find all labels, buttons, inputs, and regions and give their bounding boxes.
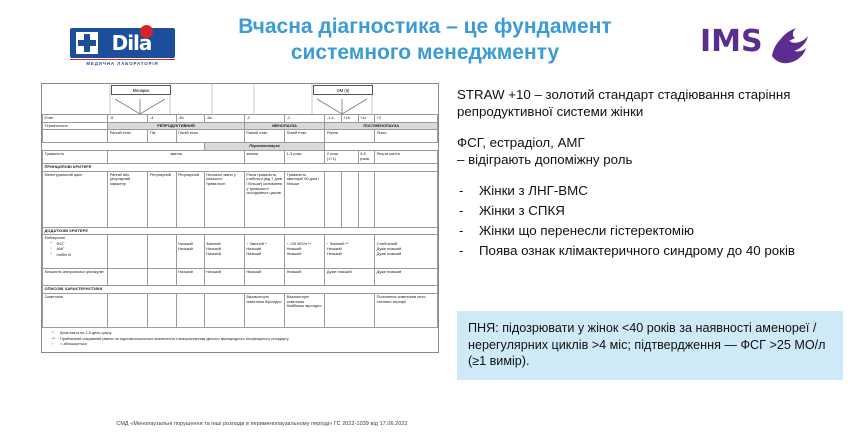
afc-cell: Низький bbox=[244, 269, 284, 286]
subphase-cell: Пізній етап bbox=[285, 130, 325, 143]
table-row-cycle: Менструальний цикл Ранній або регулярний… bbox=[43, 171, 438, 227]
duration-cell: змінна bbox=[108, 151, 245, 163]
straw-grid: Етап -5 -4 -3b -3a -2 -1 -1 a +1b +1c +2… bbox=[42, 114, 438, 328]
stage-cell: +2 bbox=[375, 115, 438, 123]
symptom-cell: Посилення симптомів сечо-статевої атрофі… bbox=[375, 293, 438, 327]
cycle-cell-empty bbox=[358, 171, 375, 227]
symptom-cell-empty bbox=[148, 293, 176, 327]
afc-cell: Низький bbox=[285, 269, 325, 286]
endocrine-cell-empty bbox=[108, 235, 148, 269]
footnote-marker: ↑ bbox=[52, 342, 54, 348]
subphase-cell: Ранній етап bbox=[244, 130, 284, 143]
endocrine-cell: Низький Низький bbox=[176, 235, 204, 269]
row-label-cycle: Менструальний цикл bbox=[43, 171, 108, 227]
dila-logo-tagline: МЕДИЧНА ЛАБОРАТОРІЯ bbox=[70, 61, 175, 66]
ims-logo-text: IMS bbox=[700, 24, 763, 59]
right-text-column: STRAW +10 – золотий стандарт стадіювання… bbox=[457, 86, 857, 261]
slide: Dila МЕДИЧНА ЛАБОРАТОРІЯ Вчасна діагност… bbox=[0, 0, 860, 440]
row-label-symptoms: Симптоми bbox=[43, 293, 108, 327]
dila-logo-dot-icon bbox=[140, 25, 153, 38]
subphase-cell: Рання bbox=[325, 130, 375, 143]
stage-cell: -3b bbox=[176, 115, 204, 123]
section-header-additional: ДОДАТКОВІ КРИТЕРІЇ bbox=[43, 227, 438, 235]
duration-cell: 3-6 років bbox=[358, 151, 375, 163]
endocrine-cell: Стабільний Дуже низький Дуже низький bbox=[375, 235, 438, 269]
symptom-cell: Вазомоторні симптоми Вірогідно bbox=[244, 293, 284, 327]
table-row-perimenopause: Перименопауза bbox=[43, 143, 438, 151]
symptom-cell: Вазомоторні симптоми Найбільш вірогідно bbox=[285, 293, 325, 327]
medical-cross-icon bbox=[76, 32, 98, 54]
stage-cell: -3a bbox=[204, 115, 244, 123]
list-item: Поява ознак клімактеричного синдрому до … bbox=[457, 241, 857, 260]
row-label-endocrine: Ендокринні ФСГ АМГ Інгібін В bbox=[43, 235, 108, 269]
cycle-cell-empty bbox=[325, 171, 342, 227]
table-row-afc: Кількість антральних фолікулів Низький Н… bbox=[43, 269, 438, 286]
menarche-marker: Менархе bbox=[111, 85, 171, 95]
endocrine-cell: ↑ Змінний ** Низький Низький bbox=[325, 235, 375, 269]
poi-note-box: ПНЯ: підозрювати у жінок <40 років за на… bbox=[457, 311, 843, 380]
symptom-cell-empty bbox=[325, 293, 375, 327]
hormones-paragraph: ФСГ, естрадіол, АМГ – відіграють допоміж… bbox=[457, 134, 857, 168]
stage-cell: -1 bbox=[285, 115, 325, 123]
perimeno-spacer-left bbox=[43, 143, 108, 151]
stage-cell: +1c bbox=[358, 115, 375, 123]
cycle-cell: Регулярний bbox=[176, 171, 204, 227]
afc-cell-empty bbox=[148, 269, 176, 286]
stage-cell: -4 bbox=[148, 115, 176, 123]
straw-intro-paragraph: STRAW +10 – золотий стандарт стадіювання… bbox=[457, 86, 857, 120]
cycle-cell-empty bbox=[375, 171, 438, 227]
duration-cell: змінна bbox=[244, 151, 284, 163]
dila-logo: Dila МЕДИЧНА ЛАБОРАТОРІЯ bbox=[70, 28, 180, 68]
cycle-cell: Тривалість аменореї 60 днів і більше bbox=[285, 171, 325, 227]
cycle-cell: Ранній або регулярний характер bbox=[108, 171, 148, 227]
list-item: Жінки з ЛНГ-ВМС bbox=[457, 181, 857, 200]
table-section-additional: ДОДАТКОВІ КРИТЕРІЇ bbox=[43, 227, 438, 235]
straw10-table: Менархе ОМ (0) Етап -5 -4 -3b -3a -2 -1 … bbox=[41, 83, 439, 353]
symptom-cell-empty bbox=[108, 293, 148, 327]
duration-cell: Решта життя bbox=[375, 151, 438, 163]
dila-logo-mark: Dila bbox=[70, 28, 175, 58]
page-title-line2: системного менеджменту bbox=[185, 40, 665, 66]
duration-cell: 2 роки (1+1) bbox=[325, 151, 358, 163]
endocrine-cell-empty bbox=[148, 235, 176, 269]
list-item: Жінки з СПКЯ bbox=[457, 201, 857, 220]
cycle-cell: Незначні зміни у кількості/ тривалості bbox=[204, 171, 244, 227]
list-item: Жінки що перенесли гістеректомію bbox=[457, 221, 857, 240]
endocrine-cell: Змінний Низький Низький bbox=[204, 235, 244, 269]
hormones-line1: ФСГ, естрадіол, АМГ bbox=[457, 135, 585, 150]
dila-logo-rule bbox=[70, 59, 175, 60]
perimeno-spacer bbox=[108, 143, 204, 151]
afc-cell: Дуже низький bbox=[375, 269, 438, 286]
afc-cell: Дуже низький bbox=[325, 269, 375, 286]
symptom-cell-empty bbox=[176, 293, 204, 327]
endocrine-cell: ↑ Змінний * Низький Низький bbox=[244, 235, 284, 269]
table-section-descriptive: ОПИСОВІ ХАРАКТЕРИСТИКИ bbox=[43, 286, 438, 294]
footnote-item: ↑ = збільшується bbox=[52, 342, 434, 348]
table-row-terminology: Термінологія РЕПРОДУКТИВНИЙ МЕНОПАУЗА ПО… bbox=[43, 122, 438, 130]
table-row-duration: Тривалість змінна змінна 1-3 роки 2 роки… bbox=[43, 151, 438, 163]
afc-cell: Низький bbox=[176, 269, 204, 286]
terminology-postmenopause: ПОСТМЕНОПАУЗА bbox=[325, 122, 438, 130]
table-row-endocrine: Ендокринні ФСГ АМГ Інгібін В Низький Низ… bbox=[43, 235, 438, 269]
afc-cell-empty bbox=[108, 269, 148, 286]
row-label-afc: Кількість антральних фолікулів bbox=[43, 269, 108, 286]
ims-logo: IMS bbox=[700, 22, 850, 68]
hormones-line2: – відіграють допоміжну роль bbox=[457, 152, 632, 167]
terminology-menopause: МЕНОПАУЗА bbox=[244, 122, 325, 130]
duration-cell: 1-3 роки bbox=[285, 151, 325, 163]
source-caption: СМД «Менопаузальні порушення та інші роз… bbox=[62, 421, 462, 427]
stage-cell: -1 a bbox=[325, 115, 342, 123]
table-row-subphase: Ранній етап Пік Пізній етап Ранній етап … bbox=[43, 130, 438, 143]
terminology-reproductive: РЕПРОДУКТИВНИЙ bbox=[108, 122, 245, 130]
table-footnotes: * Кров взята на 2-5 день циклу ** Прибли… bbox=[42, 328, 438, 352]
afc-cell: Низький bbox=[204, 269, 244, 286]
stage-cell: +1b bbox=[341, 115, 358, 123]
subphase-cell: Пік bbox=[148, 130, 176, 143]
perimenopause-band: Перименопауза bbox=[204, 143, 325, 151]
table-row-symptoms: Симптоми Вазомоторні симптоми Вірогідно … bbox=[43, 293, 438, 327]
perimeno-spacer-right bbox=[325, 143, 438, 151]
section-header-principal: ПРИНЦИПОВІ КРИТЕРІЇ bbox=[43, 163, 438, 171]
cycle-cell: Регулярний bbox=[148, 171, 176, 227]
row-label-subphase-empty bbox=[43, 130, 108, 143]
row-label-terminology: Термінологія bbox=[43, 122, 108, 130]
page-title-line1: Вчасна діагностика – це фундамент bbox=[185, 14, 665, 40]
page-title: Вчасна діагностика – це фундамент систем… bbox=[185, 14, 665, 66]
stage-cell: -5 bbox=[108, 115, 148, 123]
special-groups-list: Жінки з ЛНГ-ВМС Жінки з СПКЯ Жінки що пе… bbox=[457, 181, 857, 260]
subphase-cell: Пізній етап bbox=[176, 130, 244, 143]
symptom-cell-empty bbox=[204, 293, 244, 327]
endocrine-marker-list: ФСГ АМГ Інгібін В bbox=[45, 241, 106, 257]
endocrine-cell: ↑ >25 МО/л ** Низький Низький bbox=[285, 235, 325, 269]
subphase-cell: Ранній етап bbox=[108, 130, 148, 143]
row-label-duration: Тривалість bbox=[43, 151, 108, 163]
footnote-text: Кров взята на 2-5 день циклу bbox=[60, 331, 112, 335]
table-row-stage: Етап -5 -4 -3b -3a -2 -1 -1 a +1b +1c +2 bbox=[43, 115, 438, 123]
list-item: Інгібін В bbox=[51, 252, 106, 257]
fmp-marker: ОМ (0) bbox=[313, 85, 373, 95]
footnote-text: Приблизний очікуваний рівень на підставі… bbox=[60, 337, 289, 341]
table-section-principal: ПРИНЦИПОВІ КРИТЕРІЇ bbox=[43, 163, 438, 171]
section-header-descriptive: ОПИСОВІ ХАРАКТЕРИСТИКИ bbox=[43, 286, 438, 294]
cycle-cell: Різна тривалість, стабільні (від 7 днів … bbox=[244, 171, 284, 227]
subphase-cell: Пізня bbox=[375, 130, 438, 143]
straw-marker-band: Менархе ОМ (0) bbox=[42, 84, 438, 114]
cycle-cell-empty bbox=[341, 171, 358, 227]
stage-cell: -2 bbox=[244, 115, 284, 123]
footnote-text: = збільшується bbox=[60, 342, 87, 346]
row-label-stage: Етап bbox=[43, 115, 108, 123]
